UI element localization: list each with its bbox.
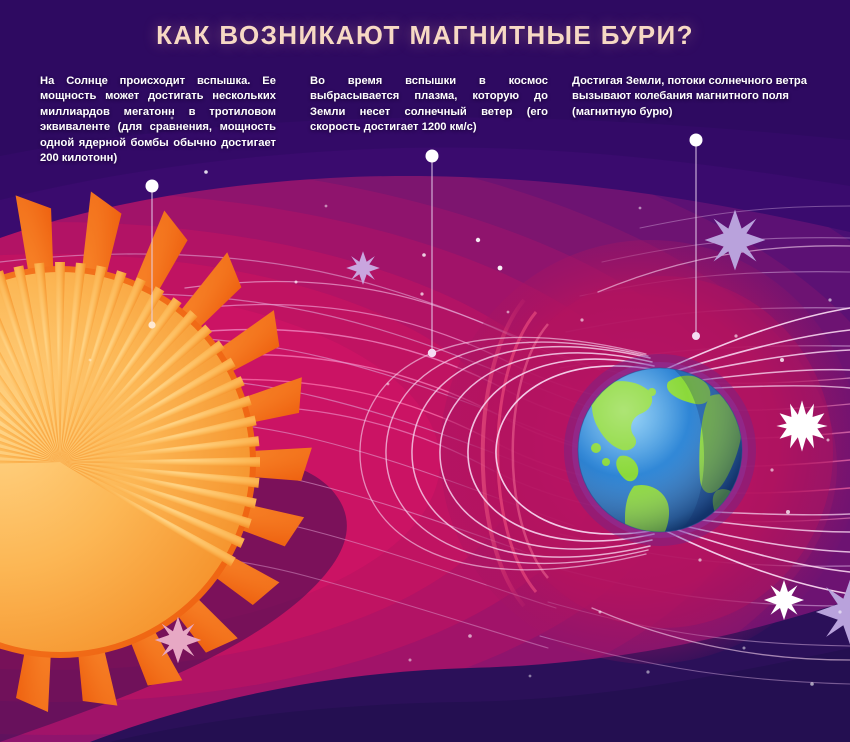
caption-solar-flare: На Солнце происходит вспышка. Ее мощност… bbox=[40, 74, 276, 166]
page-title: КАК ВОЗНИКАЮТ МАГНИТНЫЕ БУРИ? bbox=[0, 20, 850, 51]
infographic-canvas: КАК ВОЗНИКАЮТ МАГНИТНЫЕ БУРИ? На Солнце … bbox=[0, 0, 850, 742]
star-lavender-upper bbox=[705, 210, 766, 271]
caption-plasma-ejection: Во время вспышки в космос выбрасывается … bbox=[310, 74, 548, 136]
star-pink-sun bbox=[155, 617, 201, 663]
caption-magnetic-storm: Достигая Земли, потоки солнечного ветра … bbox=[572, 74, 818, 120]
star-lavender-mid bbox=[346, 251, 380, 285]
